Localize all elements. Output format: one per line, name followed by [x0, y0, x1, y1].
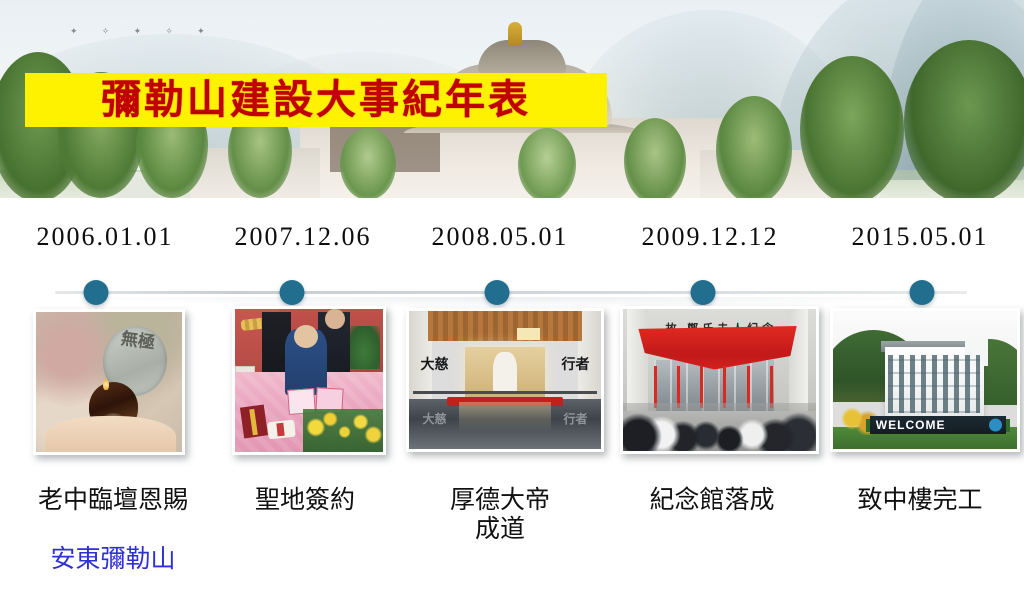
red-scroll	[240, 405, 268, 439]
photo-memorial-hall-interior[interactable]: 大慈 行者 大慈 行者	[406, 308, 604, 452]
hall-drum	[478, 40, 566, 74]
timeline-date-4: 2009.12.12	[642, 222, 779, 252]
photo-hall-opening-ceremony[interactable]: 故 鄭氏夫人紀念館	[620, 306, 819, 454]
mural-figure	[493, 352, 516, 393]
tray-item	[267, 419, 295, 439]
wall-calligraphy-right: 行者	[561, 358, 589, 373]
ceremony-crowd	[623, 403, 816, 451]
page-title: 彌勒山建設大事紀年表	[101, 80, 531, 120]
hall-finial-icon	[508, 22, 522, 46]
person-head-right	[325, 309, 344, 329]
tree	[904, 40, 1024, 198]
building-column-right	[789, 309, 808, 411]
flame-icon	[103, 379, 109, 390]
timeline-caption-4: 紀念館落成	[607, 456, 817, 545]
birds-decoration: ✦ ✧ ✦ ✧ ✦	[70, 26, 230, 52]
building-windows	[888, 355, 980, 413]
caption-3-main: 厚德大帝 成道	[400, 486, 600, 545]
caption-5-main: 致中樓完工	[820, 486, 1020, 516]
tree	[800, 56, 904, 198]
welcome-sign-text: WELCOME	[870, 418, 946, 432]
photo-3-content: 大慈 行者 大慈 行者	[409, 311, 601, 449]
caption-2-main: 聖地簽約	[205, 486, 405, 516]
photo-2-content	[235, 309, 383, 452]
ceiling-light	[517, 328, 540, 340]
welcome-sign: WELCOME	[870, 416, 1006, 434]
timeline-axis-shadow	[60, 297, 965, 307]
timeline-caption-3: 厚德大帝 成道	[400, 456, 600, 574]
photo-4-content: 故 鄭氏夫人紀念館	[623, 309, 816, 451]
photo-5-content: WELCOME	[833, 311, 1017, 449]
flower-arrangement	[303, 409, 383, 452]
timeline-dot-3[interactable]	[485, 280, 510, 305]
timeline-caption-1: 老中臨壇恩賜 安東彌勒山	[0, 456, 228, 604]
photo-zhizhong-building[interactable]: WELCOME	[830, 308, 1020, 452]
header-banner: ✦ ✧ ✦ ✧ ✦ 彌勒山建設大事紀年表	[0, 0, 1024, 198]
caption-1-main: 老中臨壇恩賜	[0, 486, 228, 516]
timeline-dates: 2006.01.01 2007.12.06 2008.05.01 2009.12…	[0, 222, 1024, 262]
plant-decoration	[348, 326, 381, 369]
timeline-date-2: 2007.12.06	[235, 222, 372, 252]
timeline-dot-5[interactable]	[910, 280, 935, 305]
wall-calligraphy-left: 大慈	[421, 358, 449, 373]
timeline-caption-2: 聖地簽約	[205, 456, 405, 545]
sign-logo-icon	[989, 418, 1002, 431]
caption-1-sub: 安東彌勒山	[0, 545, 228, 575]
timeline-date-3: 2008.05.01	[432, 222, 569, 252]
hall-rail	[413, 391, 597, 394]
tree	[518, 128, 576, 198]
tree	[340, 128, 396, 198]
floor-reflection-left: 大慈	[422, 410, 446, 427]
photo-signing-ceremony[interactable]	[232, 306, 386, 455]
timeline-dot-2[interactable]	[280, 280, 305, 305]
timeline-date-5: 2015.05.01	[852, 222, 989, 252]
timeline-caption-5: 致中樓完工	[820, 456, 1020, 545]
title-plate: 彌勒山建設大事紀年表	[25, 73, 607, 127]
photo-lamp-wuji-plaque[interactable]: 無極	[33, 309, 185, 455]
timeline-date-1: 2006.01.01	[37, 222, 174, 252]
photo-1-content: 無極	[36, 312, 182, 452]
tree	[624, 118, 686, 198]
timeline-axis	[55, 291, 967, 294]
signing-person-head	[294, 325, 318, 348]
timeline-dot-4[interactable]	[691, 280, 716, 305]
tree	[716, 96, 792, 198]
caption-4-main: 紀念館落成	[607, 486, 817, 516]
floor-reflection-right: 行者	[564, 410, 588, 427]
wooden-ceiling	[428, 311, 582, 341]
timeline-section: 2006.01.01 2007.12.06 2008.05.01 2009.12…	[0, 198, 1024, 576]
timeline-dot-1[interactable]	[84, 280, 109, 305]
building-column-left	[627, 309, 648, 411]
floor-reflection	[459, 402, 551, 432]
hands-shape	[45, 416, 176, 452]
